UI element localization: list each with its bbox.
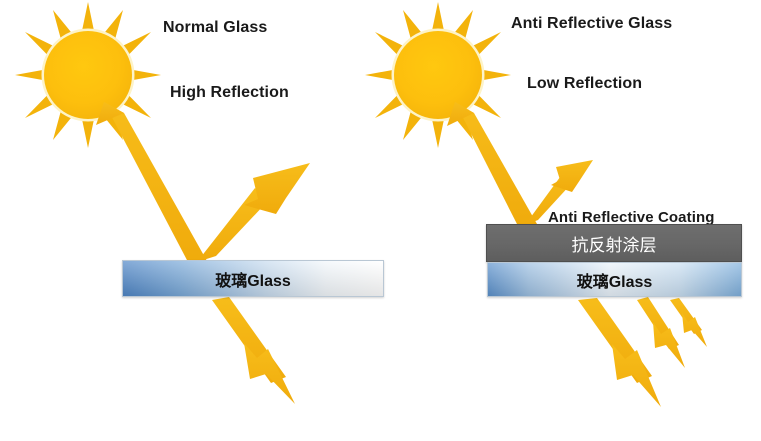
anti-reflective-coating-layer: 抗反射涂层 [486, 224, 742, 262]
glass-layer-left-label: 玻璃Glass [215, 267, 291, 291]
diagram-canvas: Normal Glass High Reflection Anti Reflec… [0, 0, 761, 441]
sun-icon-left [15, 2, 161, 148]
reflected-ray-left [197, 163, 310, 262]
label-low-reflection: Low Reflection [527, 75, 642, 93]
glass-layer-right: 玻璃Glass [487, 262, 742, 297]
glass-layer-left: 玻璃Glass [122, 260, 384, 297]
glass-layer-right-label: 玻璃Glass [577, 268, 653, 292]
heading-normal-glass: Normal Glass [163, 19, 267, 37]
label-high-reflection: High Reflection [170, 84, 289, 102]
transmitted-ray-left [212, 297, 295, 404]
coating-layer-label: 抗反射涂层 [572, 231, 657, 256]
heading-anti-reflective-glass: Anti Reflective Glass [511, 15, 672, 33]
transmitted-ray-small-right [670, 298, 707, 347]
sun-icon-right [365, 2, 511, 148]
